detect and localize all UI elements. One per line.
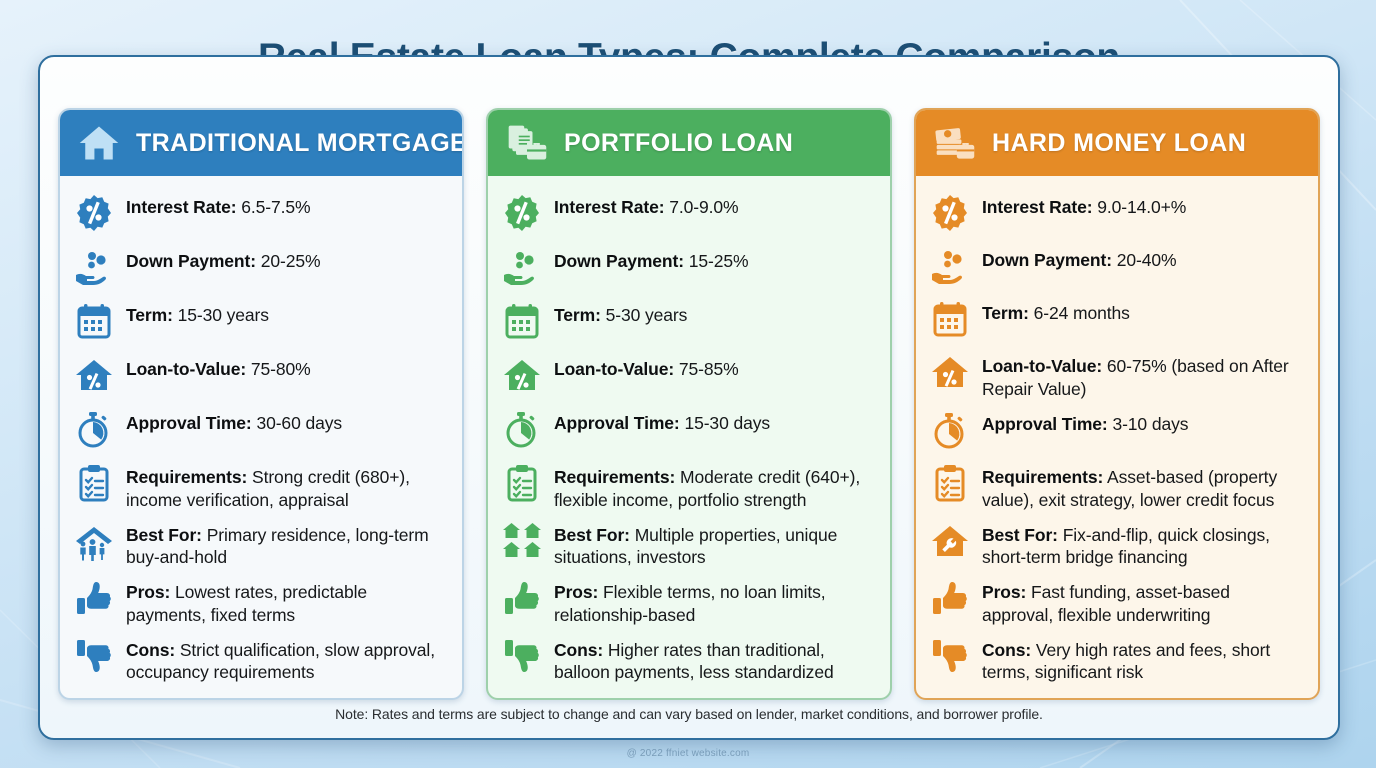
row-cons: Cons: Strict qualification, slow approva…	[72, 631, 450, 689]
row-value: 9.0-14.0+%	[1097, 197, 1186, 217]
row-down-payment: Down Payment: 15-25%	[500, 242, 878, 296]
row-label: Approval Time:	[982, 414, 1108, 434]
hand-coins-icon	[502, 247, 542, 287]
four-houses-icon	[502, 521, 542, 561]
row-text: Term: 15-30 years	[126, 300, 269, 327]
row-interest-rate: Interest Rate: 9.0-14.0+%	[928, 188, 1306, 241]
card-title: PORTFOLIO LOAN	[564, 129, 793, 158]
row-term: Term: 5-30 years	[500, 296, 878, 350]
row-label: Term:	[982, 303, 1029, 323]
row-value: 15-30 days	[684, 413, 770, 433]
row-text: Approval Time: 30-60 days	[126, 408, 342, 435]
clipboard-check-icon	[930, 463, 970, 503]
row-text: Term: 6-24 months	[982, 298, 1130, 325]
house-percent-icon	[930, 352, 970, 392]
thumbs-up-icon	[930, 578, 970, 618]
row-label: Approval Time:	[554, 413, 680, 433]
stopwatch-icon	[930, 410, 970, 450]
row-value: 7.0-9.0%	[669, 197, 738, 217]
row-approval-time: Approval Time: 15-30 days	[500, 404, 878, 458]
hand-coins-icon	[930, 246, 970, 286]
row-approval-time: Approval Time: 3-10 days	[928, 405, 1306, 458]
row-label: Loan-to-Value:	[126, 359, 246, 379]
row-value: 15-25%	[689, 251, 749, 271]
row-label: Requirements:	[126, 467, 247, 487]
thumbs-down-icon	[930, 636, 970, 676]
row-label: Down Payment:	[126, 251, 256, 271]
row-text: Cons: Strict qualification, slow approva…	[126, 635, 448, 685]
row-label: Interest Rate:	[554, 197, 664, 217]
row-label: Interest Rate:	[982, 197, 1092, 217]
card-rows: Interest Rate: 7.0-9.0% Down Payment: 15…	[488, 176, 890, 698]
row-requirements: Requirements: Moderate credit (640+), fl…	[500, 458, 878, 516]
hand-coins-icon	[74, 247, 114, 287]
row-label: Cons:	[126, 640, 175, 660]
card-header: TRADITIONAL MORTGAGE	[60, 110, 462, 176]
percent-badge-icon	[930, 193, 970, 233]
row-text: Loan-to-Value: 75-85%	[554, 354, 739, 381]
row-text: Requirements: Strong credit (680+), inco…	[126, 462, 448, 512]
row-value: 75-80%	[251, 359, 311, 379]
card-header: HARD MONEY LOAN	[916, 110, 1318, 176]
row-text: Cons: Very high rates and fees, short te…	[982, 635, 1304, 685]
row-label: Down Payment:	[982, 250, 1112, 270]
calendar-icon	[930, 299, 970, 339]
card-header: PORTFOLIO LOAN	[488, 110, 890, 176]
comparison-cards: TRADITIONAL MORTGAGE Interest Rate: 6.5-…	[58, 108, 1320, 700]
calendar-icon	[74, 301, 114, 341]
stopwatch-icon	[74, 409, 114, 449]
row-value: 5-30 years	[606, 305, 688, 325]
row-text: Best For: Primary residence, long-term b…	[126, 520, 448, 570]
row-down-payment: Down Payment: 20-40%	[928, 241, 1306, 294]
row-approval-time: Approval Time: 30-60 days	[72, 404, 450, 458]
row-label: Term:	[126, 305, 173, 325]
row-requirements: Requirements: Asset-based (property valu…	[928, 458, 1306, 516]
row-best-for: Best For: Multiple properties, unique si…	[500, 516, 878, 574]
thumbs-down-icon	[502, 636, 542, 676]
row-text: Term: 5-30 years	[554, 300, 687, 327]
house-wrench-icon	[930, 521, 970, 561]
row-label: Loan-to-Value:	[554, 359, 674, 379]
row-label: Loan-to-Value:	[982, 356, 1102, 376]
calendar-icon	[502, 301, 542, 341]
row-cons: Cons: Very high rates and fees, short te…	[928, 631, 1306, 689]
row-label: Interest Rate:	[126, 197, 236, 217]
row-label: Term:	[554, 305, 601, 325]
row-best-for: Best For: Fix-and-flip, quick closings, …	[928, 516, 1306, 574]
cash-stack-briefcase-icon	[932, 121, 978, 165]
row-text: Pros: Fast funding, asset-based approval…	[982, 577, 1304, 627]
row-value: 6-24 months	[1034, 303, 1130, 323]
watermark: @ 2022 ffniet website.com	[0, 748, 1376, 759]
row-text: Pros: Flexible terms, no loan limits, re…	[554, 577, 876, 627]
row-label: Requirements:	[554, 467, 675, 487]
documents-briefcase-icon	[504, 121, 550, 165]
row-label: Pros:	[982, 582, 1026, 602]
row-label: Cons:	[554, 640, 603, 660]
row-interest-rate: Interest Rate: 6.5-7.5%	[72, 188, 450, 242]
row-text: Requirements: Moderate credit (640+), fl…	[554, 462, 876, 512]
row-pros: Pros: Flexible terms, no loan limits, re…	[500, 573, 878, 631]
row-label: Requirements:	[982, 467, 1103, 487]
percent-badge-icon	[502, 193, 542, 233]
row-requirements: Requirements: Strong credit (680+), inco…	[72, 458, 450, 516]
row-text: Interest Rate: 9.0-14.0+%	[982, 192, 1186, 219]
row-best-for: Best For: Primary residence, long-term b…	[72, 516, 450, 574]
clipboard-check-icon	[74, 463, 114, 503]
row-text: Loan-to-Value: 75-80%	[126, 354, 311, 381]
row-loan-to-value: Loan-to-Value: 60-75% (based on After Re…	[928, 347, 1306, 405]
thumbs-up-icon	[74, 578, 114, 618]
row-text: Requirements: Asset-based (property valu…	[982, 462, 1304, 512]
row-interest-rate: Interest Rate: 7.0-9.0%	[500, 188, 878, 242]
row-loan-to-value: Loan-to-Value: 75-85%	[500, 350, 878, 404]
row-label: Cons:	[982, 640, 1031, 660]
footnote: Note: Rates and terms are subject to cha…	[58, 706, 1320, 722]
row-text: Cons: Higher rates than traditional, bal…	[554, 635, 876, 685]
thumbs-down-icon	[74, 636, 114, 676]
row-down-payment: Down Payment: 20-25%	[72, 242, 450, 296]
house-family-icon	[74, 521, 114, 561]
card-hard-money-loan[interactable]: HARD MONEY LOAN Interest Rate: 9.0-14.0+…	[914, 108, 1320, 700]
row-label: Pros:	[126, 582, 170, 602]
row-value: 15-30 years	[178, 305, 269, 325]
row-text: Approval Time: 15-30 days	[554, 408, 770, 435]
row-label: Down Payment:	[554, 251, 684, 271]
percent-badge-icon	[74, 193, 114, 233]
thumbs-up-icon	[502, 578, 542, 618]
row-cons: Cons: Higher rates than traditional, bal…	[500, 631, 878, 689]
card-rows: Interest Rate: 9.0-14.0+% Down Payment: …	[916, 176, 1318, 698]
house-percent-icon	[74, 355, 114, 395]
house-percent-icon	[502, 355, 542, 395]
clipboard-check-icon	[502, 463, 542, 503]
row-text: Best For: Multiple properties, unique si…	[554, 520, 876, 570]
row-pros: Pros: Lowest rates, predictable payments…	[72, 573, 450, 631]
row-value: 20-40%	[1117, 250, 1177, 270]
row-label: Pros:	[554, 582, 598, 602]
row-term: Term: 15-30 years	[72, 296, 450, 350]
stopwatch-icon	[502, 409, 542, 449]
row-text: Approval Time: 3-10 days	[982, 409, 1188, 436]
card-traditional-mortgage[interactable]: TRADITIONAL MORTGAGE Interest Rate: 6.5-…	[58, 108, 464, 700]
row-text: Interest Rate: 6.5-7.5%	[126, 192, 310, 219]
row-text: Loan-to-Value: 60-75% (based on After Re…	[982, 351, 1304, 401]
card-rows: Interest Rate: 6.5-7.5% Down Payment: 20…	[60, 176, 462, 698]
row-text: Pros: Lowest rates, predictable payments…	[126, 577, 448, 627]
house-icon	[76, 121, 122, 165]
row-value: 75-85%	[679, 359, 739, 379]
row-text: Down Payment: 20-40%	[982, 245, 1176, 272]
row-text: Down Payment: 20-25%	[126, 246, 320, 273]
card-title: HARD MONEY LOAN	[992, 129, 1246, 158]
row-text: Best For: Fix-and-flip, quick closings, …	[982, 520, 1304, 570]
row-pros: Pros: Fast funding, asset-based approval…	[928, 573, 1306, 631]
row-text: Down Payment: 15-25%	[554, 246, 748, 273]
row-label: Approval Time:	[126, 413, 252, 433]
row-term: Term: 6-24 months	[928, 294, 1306, 347]
row-value: 20-25%	[261, 251, 321, 271]
card-portfolio-loan[interactable]: PORTFOLIO LOAN Interest Rate: 7.0-9.0% D…	[486, 108, 892, 700]
row-loan-to-value: Loan-to-Value: 75-80%	[72, 350, 450, 404]
row-value: 6.5-7.5%	[241, 197, 310, 217]
row-value: 30-60 days	[256, 413, 342, 433]
row-label: Best For:	[554, 525, 630, 545]
row-value: 3-10 days	[1112, 414, 1188, 434]
card-title: TRADITIONAL MORTGAGE	[136, 129, 464, 158]
row-label: Best For:	[982, 525, 1058, 545]
row-label: Best For:	[126, 525, 202, 545]
row-text: Interest Rate: 7.0-9.0%	[554, 192, 738, 219]
